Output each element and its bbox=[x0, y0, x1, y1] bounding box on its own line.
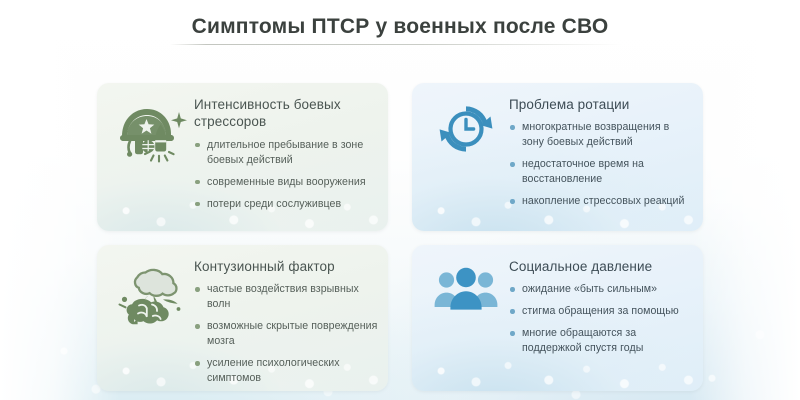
card-body: Интенсивность боевых стрессоров длительн… bbox=[194, 94, 378, 212]
card-heading: Социальное давление bbox=[509, 258, 693, 275]
list-item: ожидание «быть сильным» bbox=[509, 282, 693, 297]
list-item: усиление психологических симптомов bbox=[194, 356, 378, 386]
list-item: недостаточное время на восстановление bbox=[509, 157, 693, 187]
card-social-pressure[interactable]: Социальное давление ожидание «быть сильн… bbox=[412, 245, 703, 391]
card-heading: Контузионный фактор bbox=[194, 258, 378, 275]
card-bullet-list: ожидание «быть сильным» стигма обращения… bbox=[509, 282, 693, 356]
card-bullet-list: длительное пребывание в зоне боевых дейс… bbox=[194, 138, 378, 212]
clock-rotation-icon bbox=[423, 94, 509, 168]
list-item: возможные скрытые повреждения мозга bbox=[194, 319, 378, 349]
brain-blast-icon bbox=[108, 256, 194, 330]
list-item: накопление стрессовых реакций bbox=[509, 194, 693, 209]
military-helmet-icon bbox=[108, 94, 194, 168]
card-rotation[interactable]: Проблема ротации многократные возвращени… bbox=[412, 83, 703, 231]
list-item: частые воздействия взрывных волн bbox=[194, 282, 378, 312]
card-concussion[interactable]: Контузионный фактор частые воздействия в… bbox=[97, 245, 388, 391]
list-item: многократные возвращения в зону боевых д… bbox=[509, 120, 693, 150]
page-title: Симптомы ПТСР у военных после СВО bbox=[0, 14, 800, 39]
slide-header: Симптомы ПТСР у военных после СВО bbox=[0, 14, 800, 39]
title-divider bbox=[170, 44, 622, 45]
list-item: стигма обращения за помощью bbox=[509, 304, 693, 319]
slide-root: Симптомы ПТСР у военных после СВО bbox=[0, 0, 800, 400]
card-body: Проблема ротации многократные возвращени… bbox=[509, 94, 693, 209]
list-item: современные виды вооружения bbox=[194, 175, 378, 190]
people-group-icon bbox=[423, 256, 509, 330]
card-intensity[interactable]: Интенсивность боевых стрессоров длительн… bbox=[97, 83, 388, 231]
card-heading: Проблема ротации bbox=[509, 96, 693, 113]
card-bullet-list: частые воздействия взрывных волн возможн… bbox=[194, 282, 378, 386]
list-item: длительное пребывание в зоне боевых дейс… bbox=[194, 138, 378, 168]
card-body: Социальное давление ожидание «быть сильн… bbox=[509, 256, 693, 356]
list-item: потери среди сослуживцев bbox=[194, 197, 378, 212]
card-body: Контузионный фактор частые воздействия в… bbox=[194, 256, 378, 386]
list-item: многие обращаются за поддержкой спустя г… bbox=[509, 326, 693, 356]
card-bullet-list: многократные возвращения в зону боевых д… bbox=[509, 120, 693, 209]
card-heading: Интенсивность боевых стрессоров bbox=[194, 96, 378, 131]
cards-grid: Интенсивность боевых стрессоров длительн… bbox=[97, 83, 703, 391]
